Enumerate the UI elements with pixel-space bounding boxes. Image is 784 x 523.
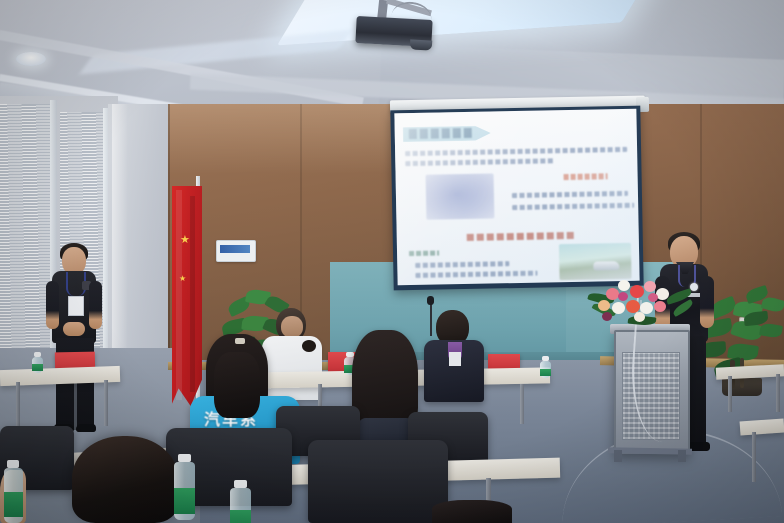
projection-screen	[394, 109, 639, 286]
potted-plant-far-right	[744, 288, 784, 358]
flag-star-icon-small: ★	[179, 276, 185, 282]
slide-paragraph-line	[405, 158, 555, 166]
slide-car-shape	[593, 261, 619, 270]
audience-foreground-head	[72, 436, 178, 523]
audience-badge	[449, 352, 461, 366]
conference-room-photo: ★ ★	[0, 0, 784, 523]
slide-sub-heading	[409, 251, 439, 257]
floral-arrangement	[588, 272, 696, 330]
table-leg	[728, 376, 732, 412]
flag-fold	[176, 190, 182, 400]
slide-sub-bullet-line	[415, 271, 537, 278]
staff-id-badge	[68, 296, 84, 316]
slide-engine-photo	[426, 173, 495, 219]
audience-glasses-icon	[302, 340, 316, 352]
presenter-right-arm	[700, 276, 714, 328]
slide-paragraph-line	[405, 147, 627, 156]
microphone-icon	[427, 296, 434, 305]
lectern-foot	[614, 450, 622, 462]
slide-sub-bullet-line	[415, 261, 509, 268]
slide-center-headline	[467, 232, 577, 241]
slide-section-heading	[564, 173, 608, 180]
slide-bullet-line	[512, 203, 634, 210]
staff-shoe	[76, 424, 96, 432]
slide-banner-title	[409, 128, 475, 139]
microphone-stand	[430, 300, 432, 336]
wall-sign-text-bar	[220, 245, 250, 253]
staff-left-arm	[46, 281, 59, 329]
table-leg	[104, 380, 108, 426]
wood-panel-seam	[168, 104, 170, 366]
hair-clip-icon	[235, 338, 245, 344]
staff-hands	[63, 322, 85, 336]
projector-lens-icon	[410, 39, 432, 50]
flag-star-icon: ★	[180, 236, 188, 244]
table-leg	[752, 432, 756, 482]
lectern-foot	[678, 450, 686, 462]
table-leg	[520, 384, 524, 424]
recessed-downlight-icon	[16, 52, 46, 66]
table-leg	[776, 374, 780, 412]
flag-fold	[190, 196, 195, 392]
slide-bullet-line	[512, 191, 628, 198]
staff-right-arm	[89, 281, 102, 329]
audience-face	[281, 316, 303, 338]
audience-foreground-head-right	[432, 500, 512, 523]
table-leg	[16, 382, 20, 426]
audience-hair-overlay	[214, 352, 260, 418]
office-chair	[308, 440, 448, 523]
